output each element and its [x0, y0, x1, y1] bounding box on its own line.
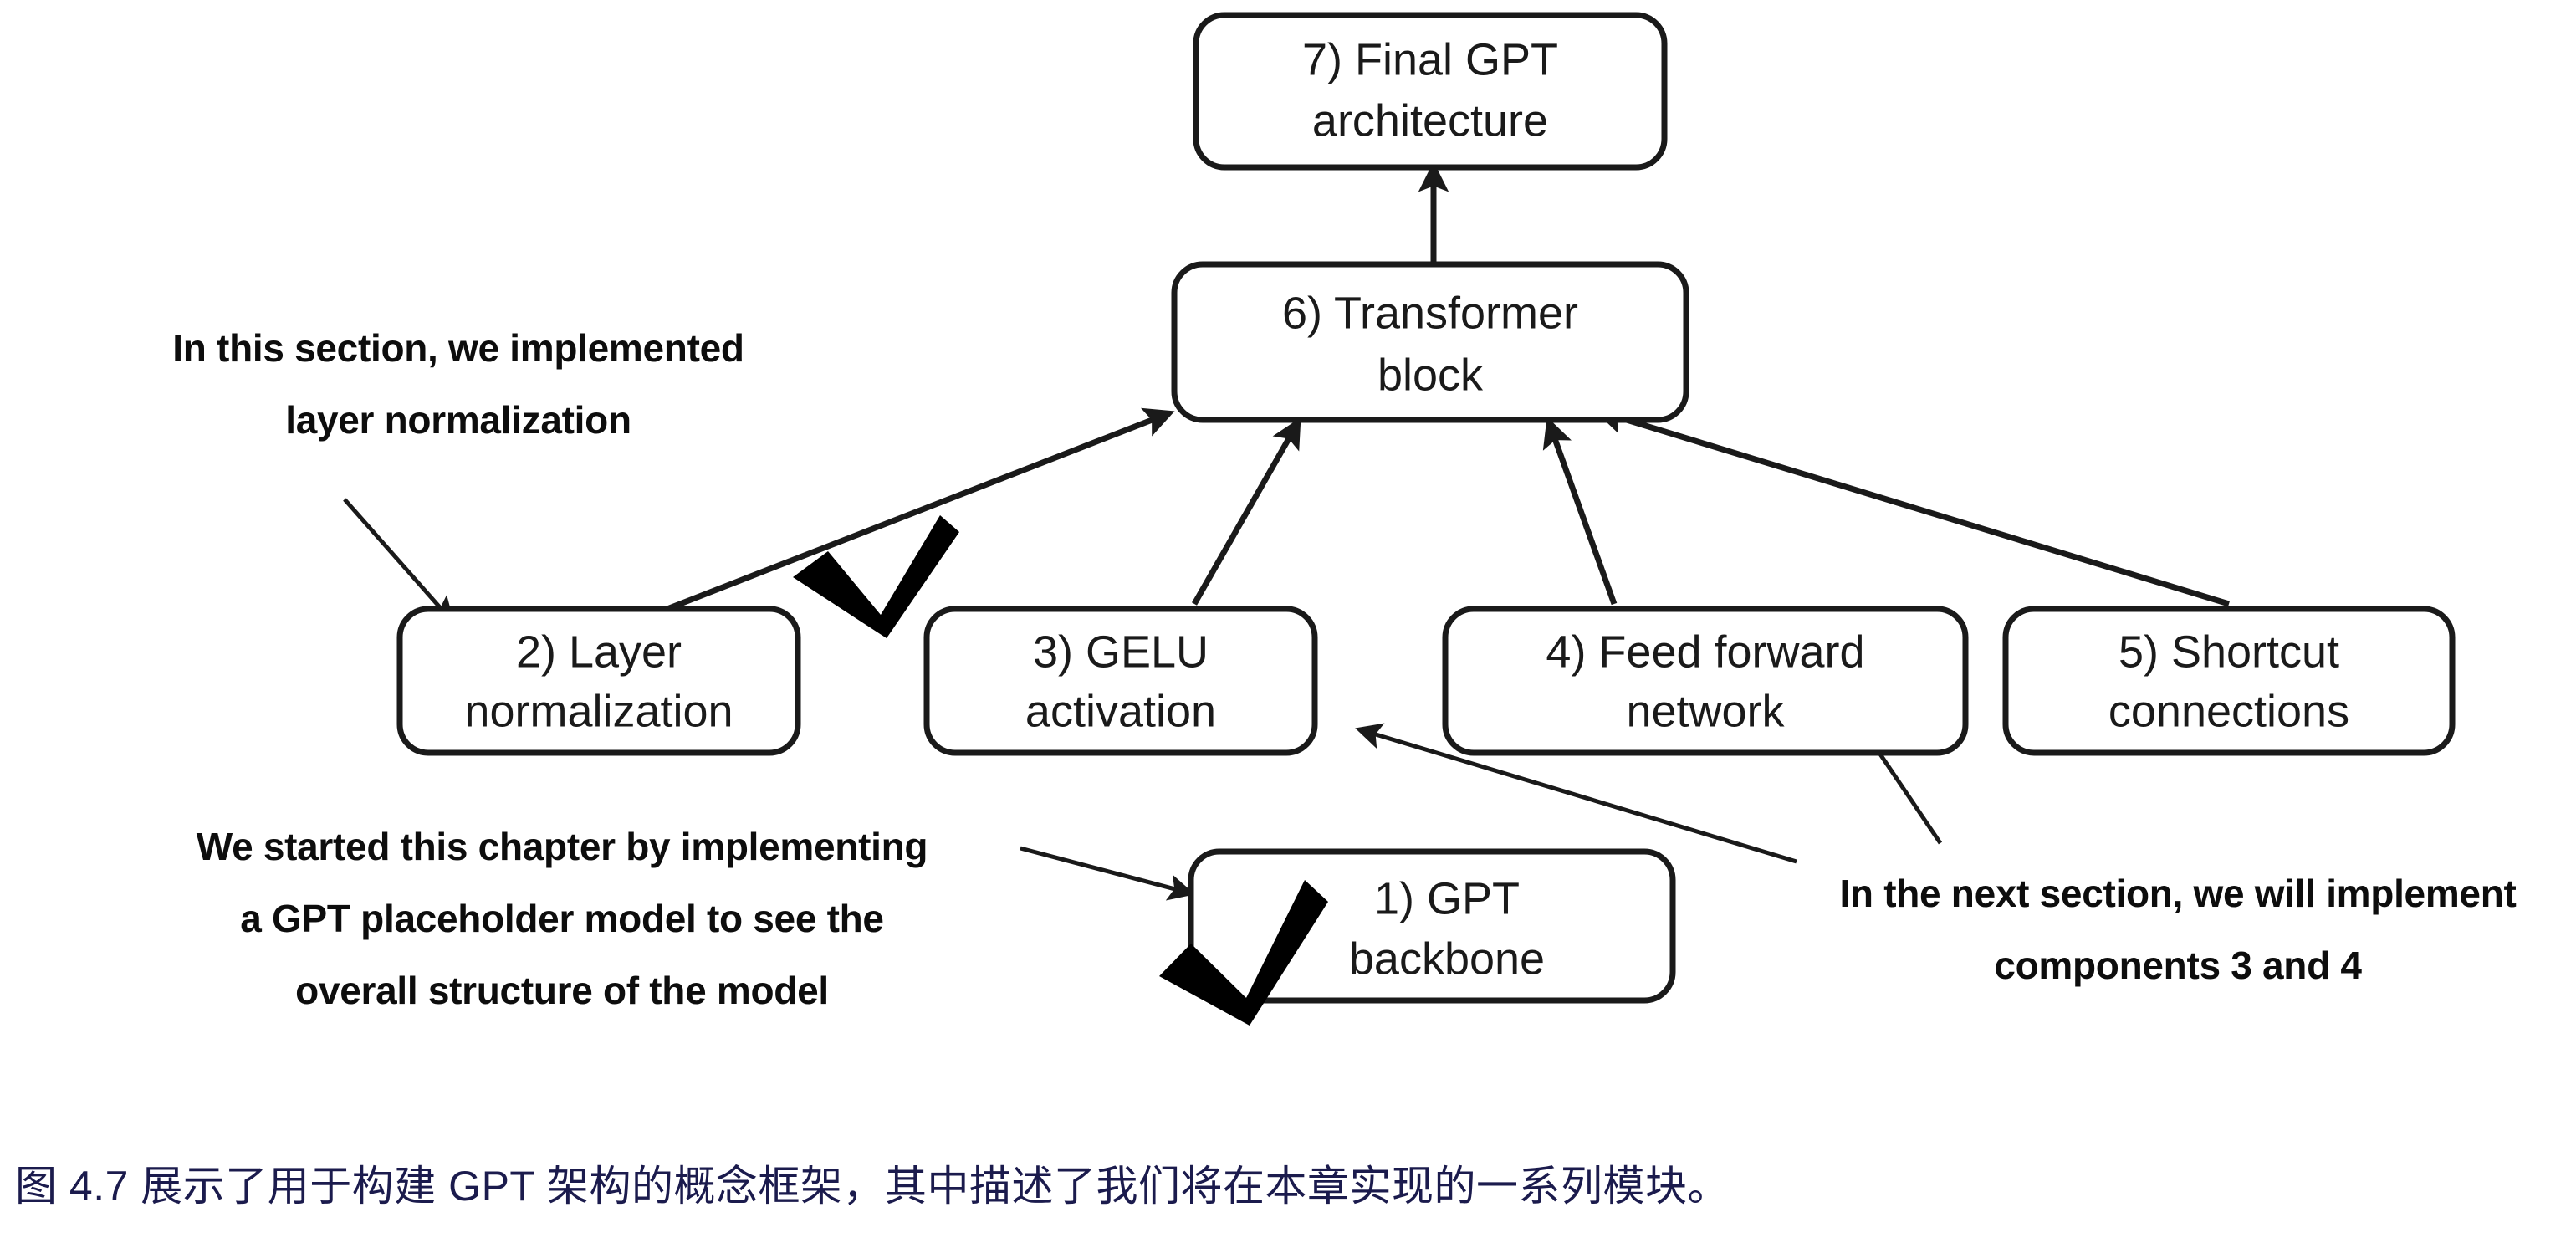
- node-gelu-activation[interactable]: 3) GELU activation: [927, 609, 1315, 753]
- annotation-layer-norm-note: In this section, we implemented layer no…: [172, 326, 744, 442]
- figure-4-7: 7) Final GPT architecture 6) Transformer…: [0, 0, 2576, 1243]
- annotation-next-section-note: In the next section, we will implement c…: [1839, 872, 2516, 987]
- node-gptbackbone-line2: backbone: [1349, 934, 1545, 984]
- edge-shortcut-to-transformer: [1599, 412, 2229, 604]
- node-final-gpt-architecture[interactable]: 7) Final GPT architecture: [1196, 15, 1664, 167]
- pointer-chapter-start-note: [1020, 848, 1191, 893]
- node-layernorm-line1: 2) Layer: [516, 627, 682, 677]
- annotation-chapterstart-line1: We started this chapter by implementing: [197, 825, 928, 868]
- node-feed-forward-network[interactable]: 4) Feed forward network: [1445, 609, 1965, 753]
- node-transformer-line1: 6) Transformer: [1282, 288, 1578, 338]
- node-shortcut-connections[interactable]: 5) Shortcut connections: [2006, 609, 2452, 753]
- node-shortcut-line2: connections: [2108, 686, 2349, 736]
- annotation-chapterstart-line3: overall structure of the model: [295, 969, 829, 1012]
- node-transformer-line2: block: [1377, 350, 1484, 400]
- node-layer-normalization[interactable]: 2) Layer normalization: [400, 609, 798, 753]
- node-gelu-line1: 3) GELU: [1033, 627, 1209, 677]
- node-final-gpt-line1: 7) Final GPT: [1302, 34, 1558, 84]
- node-transformer-block[interactable]: 6) Transformer block: [1174, 264, 1686, 420]
- annotation-nextsection-line2: components 3 and 4: [1994, 944, 2362, 987]
- node-final-gpt-line2: architecture: [1312, 95, 1548, 146]
- node-gptbackbone-line1: 1) GPT: [1374, 873, 1520, 923]
- figure-caption: 图 4.7 展示了用于构建 GPT 架构的概念框架，其中描述了我们将在本章实现的…: [15, 1153, 2558, 1213]
- node-feedforward-line2: network: [1626, 686, 1785, 736]
- node-shortcut-line1: 5) Shortcut: [2119, 627, 2339, 677]
- node-feedforward-line1: 4) Feed forward: [1546, 627, 1864, 677]
- annotation-layernorm-line1: In this section, we implemented: [172, 326, 744, 370]
- node-gelu-line2: activation: [1025, 686, 1216, 736]
- node-layernorm-line2: normalization: [464, 686, 733, 736]
- pointer-layernorm-note: [345, 499, 452, 621]
- annotation-layernorm-line2: layer normalization: [285, 398, 631, 442]
- annotation-chapter-start-note: We started this chapter by implementing …: [197, 825, 928, 1012]
- annotation-nextsection-line1: In the next section, we will implement: [1839, 872, 2516, 915]
- annotation-chapterstart-line2: a GPT placeholder model to see the: [240, 897, 883, 940]
- edge-gelu-to-transformer: [1194, 422, 1298, 604]
- edge-feedforward-to-transformer: [1549, 422, 1614, 604]
- diagram-canvas: 7) Final GPT architecture 6) Transformer…: [0, 0, 2576, 1243]
